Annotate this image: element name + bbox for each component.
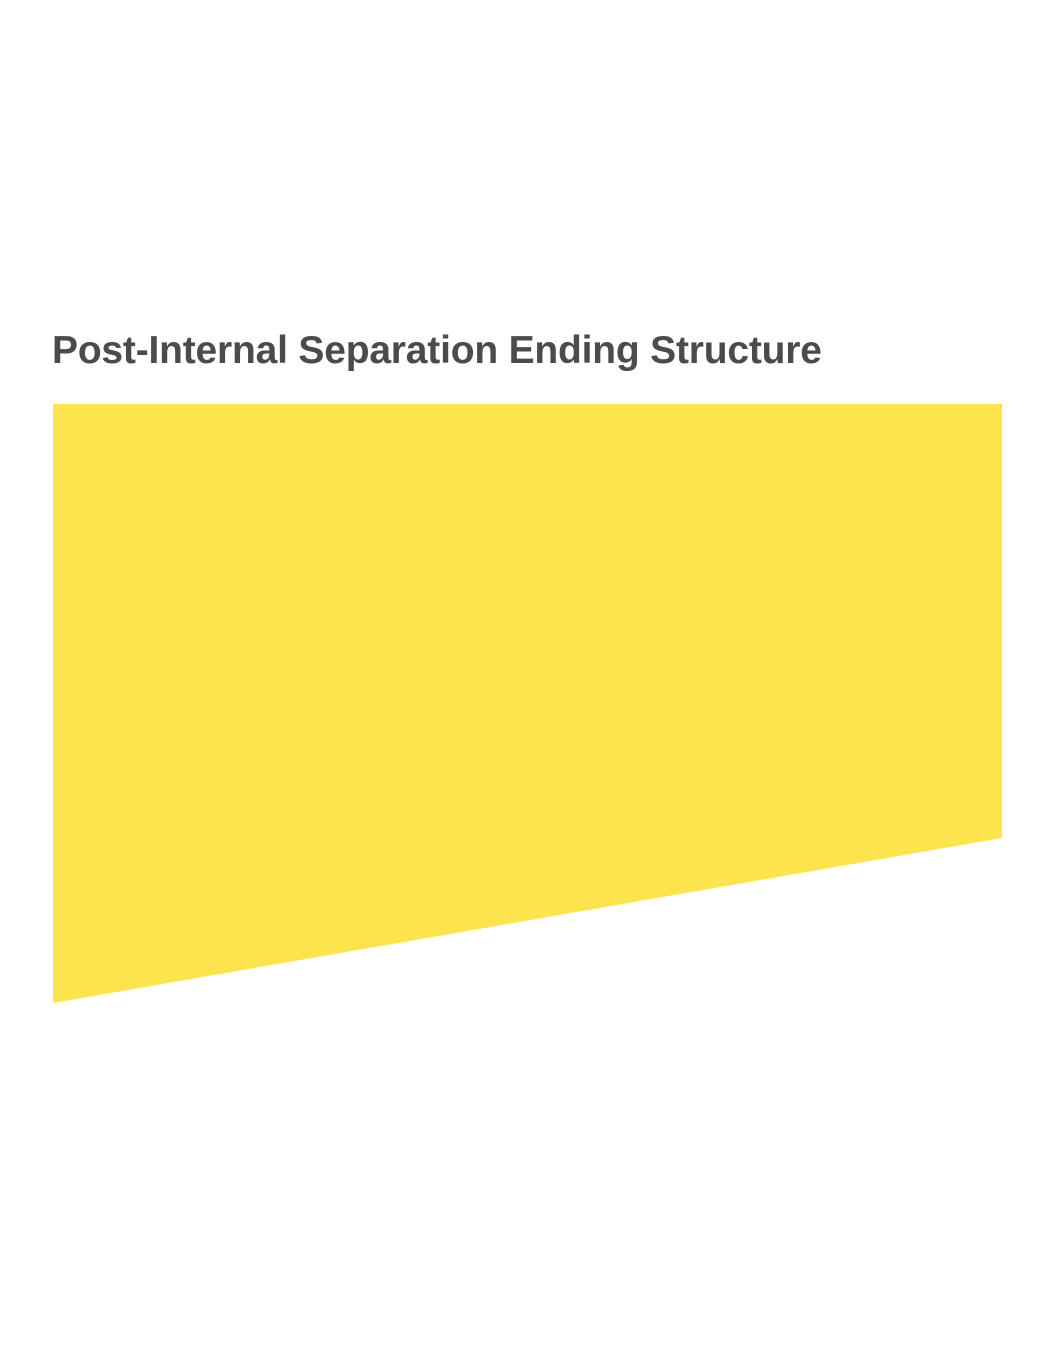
redaction-shape — [53, 404, 1002, 1004]
redaction-polygon — [53, 404, 1002, 1003]
page-footer: Page 57 FOR USE IN DISCOVERY-WARNERMEDIA… — [0, 1008, 1055, 1068]
page-title: Post-Internal Separation Ending Structur… — [52, 328, 992, 374]
redacted-content-area — [53, 404, 1002, 1004]
slide-page: Post-Internal Separation Ending Structur… — [0, 0, 1055, 1365]
